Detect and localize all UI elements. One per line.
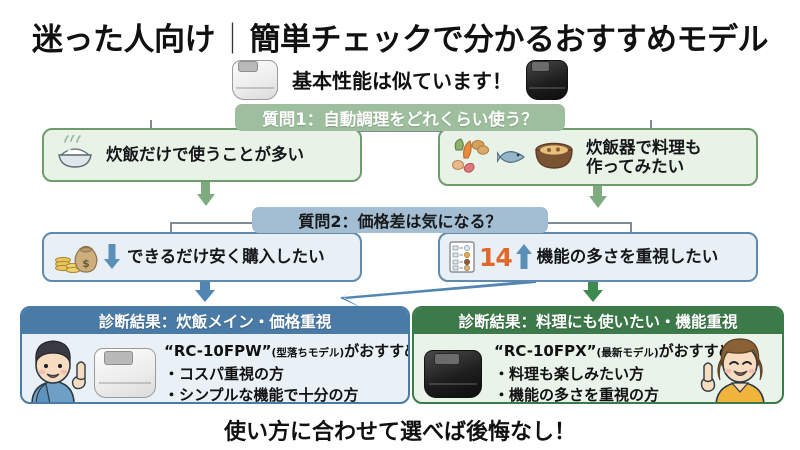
page-title-separator: ｜ xyxy=(215,14,250,59)
steaming-rice-bowl-icon xyxy=(54,135,96,175)
result-card-right-body: “RC-10FPX”(最新モデル)がおすすめ! ・料理も楽しみたい方 ・機能の多… xyxy=(414,334,782,402)
result-card-left-body: “RC-10FPW”(型落ちモデル)がおすすめ! ・コスパ重視の方 ・シンプルな… xyxy=(22,334,408,402)
arrow-down-q2-left xyxy=(195,290,215,302)
q2-option-cheap-icons: $ xyxy=(54,239,121,275)
result-left-model-note: (型落ちモデル) xyxy=(272,347,345,359)
menu-list-icon xyxy=(448,240,476,274)
man-pointing-up-icon xyxy=(24,338,102,404)
q1-option-cooking[interactable]: 炊飯器で料理も 作ってみたい xyxy=(438,128,758,186)
down-arrow-icon xyxy=(103,242,121,272)
q2-option-cheap[interactable]: $ できるだけ安く購入したい xyxy=(42,232,362,282)
q1-option-rice-only-label: 炊飯だけで使うことが多い xyxy=(106,145,304,164)
subtitle-text: 基本性能は似ています！ xyxy=(292,65,512,94)
black-rice-cooker-icon xyxy=(526,58,568,100)
cooking-pot-icon xyxy=(530,137,578,177)
result-card-left[interactable]: 診断結果：炊飯メイン・価格重視 xyxy=(20,306,410,404)
q2-option-features-icons: 14 xyxy=(448,240,533,274)
q2-option-features[interactable]: 14 機能の多さを重視したい xyxy=(438,232,758,282)
result-left-model-name: “RC-10FPW” xyxy=(164,342,272,360)
footer-text: 使い方に合わせて選べば後悔なし！ xyxy=(0,414,800,446)
result-right-model-note: (最新モデル) xyxy=(597,347,659,359)
q1-option-cooking-label: 炊飯器で料理も 作ってみたい xyxy=(586,138,702,177)
page-title-part1: 迷った人向け xyxy=(32,22,215,58)
q1-option-cooking-icons xyxy=(450,136,578,178)
result-right-model-name: “RC-10FPX” xyxy=(494,342,597,360)
q2-option-cheap-label: できるだけ安く購入したい xyxy=(127,247,325,266)
arrow-down-q2-right xyxy=(583,290,603,302)
result-left-bullet-0: ・コスパ重視の方 xyxy=(164,364,410,385)
black-rice-cooker-icon xyxy=(424,348,482,398)
result-card-right[interactable]: 診断結果：料理にも使いたい・機能重視 “RC-10FPX”(最新モデル)がおすす… xyxy=(412,306,784,404)
fish-icon xyxy=(497,144,527,170)
q2-option-features-label: 機能の多さを重視したい xyxy=(537,247,719,266)
white-rice-cooker-icon xyxy=(94,346,156,398)
question2-label: 質問2：価格差は気になる？ xyxy=(298,208,501,232)
question2-header: 質問2：価格差は気になる？ xyxy=(252,207,548,233)
svg-text:$: $ xyxy=(82,257,90,270)
woman-pointing-up-icon xyxy=(696,336,778,404)
feature-count-badge: 14 xyxy=(479,245,512,270)
q1-option-rice-only[interactable]: 炊飯だけで使うことが多い xyxy=(42,128,362,182)
up-arrow-icon xyxy=(515,242,533,272)
result-left-model-suffix: がおすすめ! xyxy=(344,342,410,360)
arrow-down-q1-left xyxy=(197,194,215,206)
question1-label: 質問1：自動調理をどれくらい使う？ xyxy=(262,106,537,130)
white-rice-cooker-icon xyxy=(232,58,278,100)
result-card-right-heading: 診断結果：料理にも使いたい・機能重視 xyxy=(414,308,782,334)
infographic-root: 迷った人向け｜簡単チェックで分かるおすすめモデル 基本性能は似ています！ 質問1… xyxy=(0,0,800,450)
money-bag-icon: $ xyxy=(54,239,100,275)
vegetables-icon xyxy=(450,136,494,178)
subtitle-row: 基本性能は似ています！ xyxy=(0,56,800,102)
arrow-down-q1-right xyxy=(589,196,607,208)
result-card-left-model: “RC-10FPW”(型落ちモデル)がおすすめ! ・コスパ重視の方 ・シンプルな… xyxy=(164,340,410,404)
question1-header: 質問1：自動調理をどれくらい使う？ xyxy=(235,104,565,131)
result-left-bullet-1: ・シンプルな機能で十分の方 xyxy=(164,385,410,404)
result-card-left-heading: 診断結果：炊飯メイン・価格重視 xyxy=(22,308,408,334)
page-title: 迷った人向け｜簡単チェックで分かるおすすめモデル xyxy=(0,14,800,59)
page-title-part2: 簡単チェックで分かるおすすめモデル xyxy=(250,22,769,58)
